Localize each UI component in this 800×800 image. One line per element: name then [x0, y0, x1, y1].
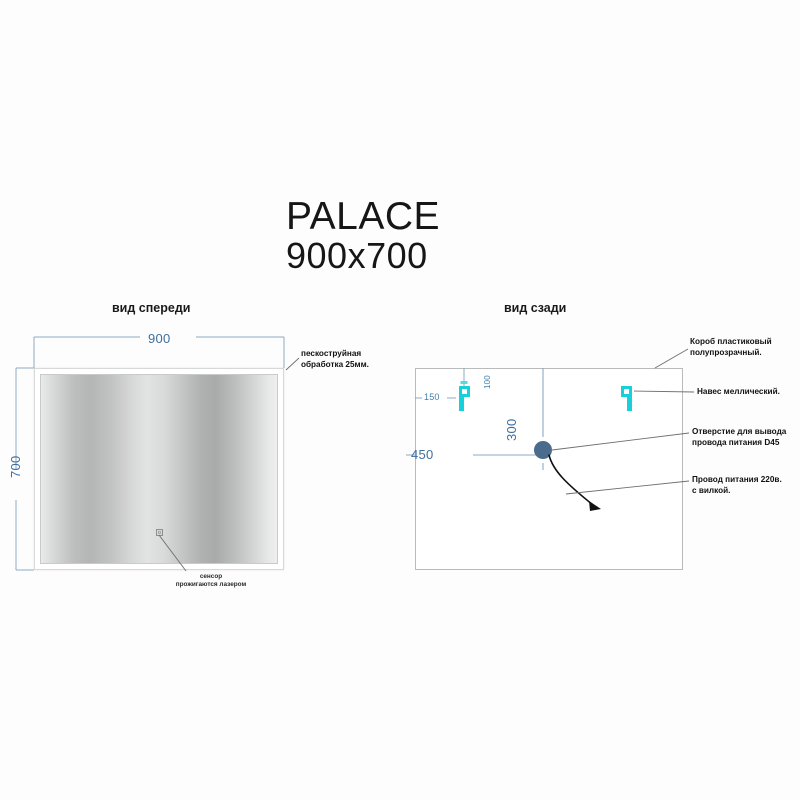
leader-cord — [566, 481, 689, 494]
leader-hanger — [634, 391, 694, 392]
callout-hole-line2: провода питания D45 — [692, 438, 786, 449]
callout-cord-line1: Провод питания 220в. — [692, 475, 782, 486]
callout-hole-line1: Отверстие для вывода — [692, 427, 786, 438]
dimension-label-150: 150 — [424, 392, 440, 402]
leader-hole — [552, 433, 689, 450]
technical-drawing-canvas: PALACE 900x700 вид спереди вид сзади — [0, 0, 800, 800]
leader-sensor — [159, 535, 186, 571]
callout-box-line2: полупрозрачный. — [690, 348, 772, 359]
callout-sandblast-line1: пескоструйная — [301, 349, 369, 360]
callout-sensor-line1: сенсор — [163, 573, 259, 581]
callout-plastic-box: Короб пластиковый полупрозрачный. — [690, 337, 772, 359]
dimension-label-450: 450 — [411, 447, 434, 462]
power-cord-with-plug — [549, 455, 601, 511]
drawing-vector-layer — [0, 0, 800, 800]
callout-sandblast: пескоструйная обработка 25мм. — [301, 349, 369, 371]
leader-sandblast — [286, 358, 299, 370]
callout-box-line1: Короб пластиковый — [690, 337, 772, 348]
callout-sensor: сенсор прожигаются лазером — [163, 573, 259, 590]
callout-metal-hanger: Навес меллический. — [697, 387, 780, 398]
dimension-label-900: 900 — [148, 331, 171, 346]
leader-box — [655, 349, 688, 368]
dimension-label-100: 100 — [483, 375, 492, 389]
callout-sensor-line2: прожигаются лазером — [163, 581, 259, 589]
dimension-label-300: 300 — [504, 418, 519, 441]
callout-cord-line2: с вилкой. — [692, 486, 782, 497]
hanger-bracket-icon — [621, 386, 632, 411]
callout-power-cord: Провод питания 220в. с вилкой. — [692, 475, 782, 497]
callout-sandblast-line2: обработка 25мм. — [301, 360, 369, 371]
dimension-label-700: 700 — [8, 455, 23, 478]
callout-cable-hole: Отверстие для вывода провода питания D45 — [692, 427, 786, 449]
